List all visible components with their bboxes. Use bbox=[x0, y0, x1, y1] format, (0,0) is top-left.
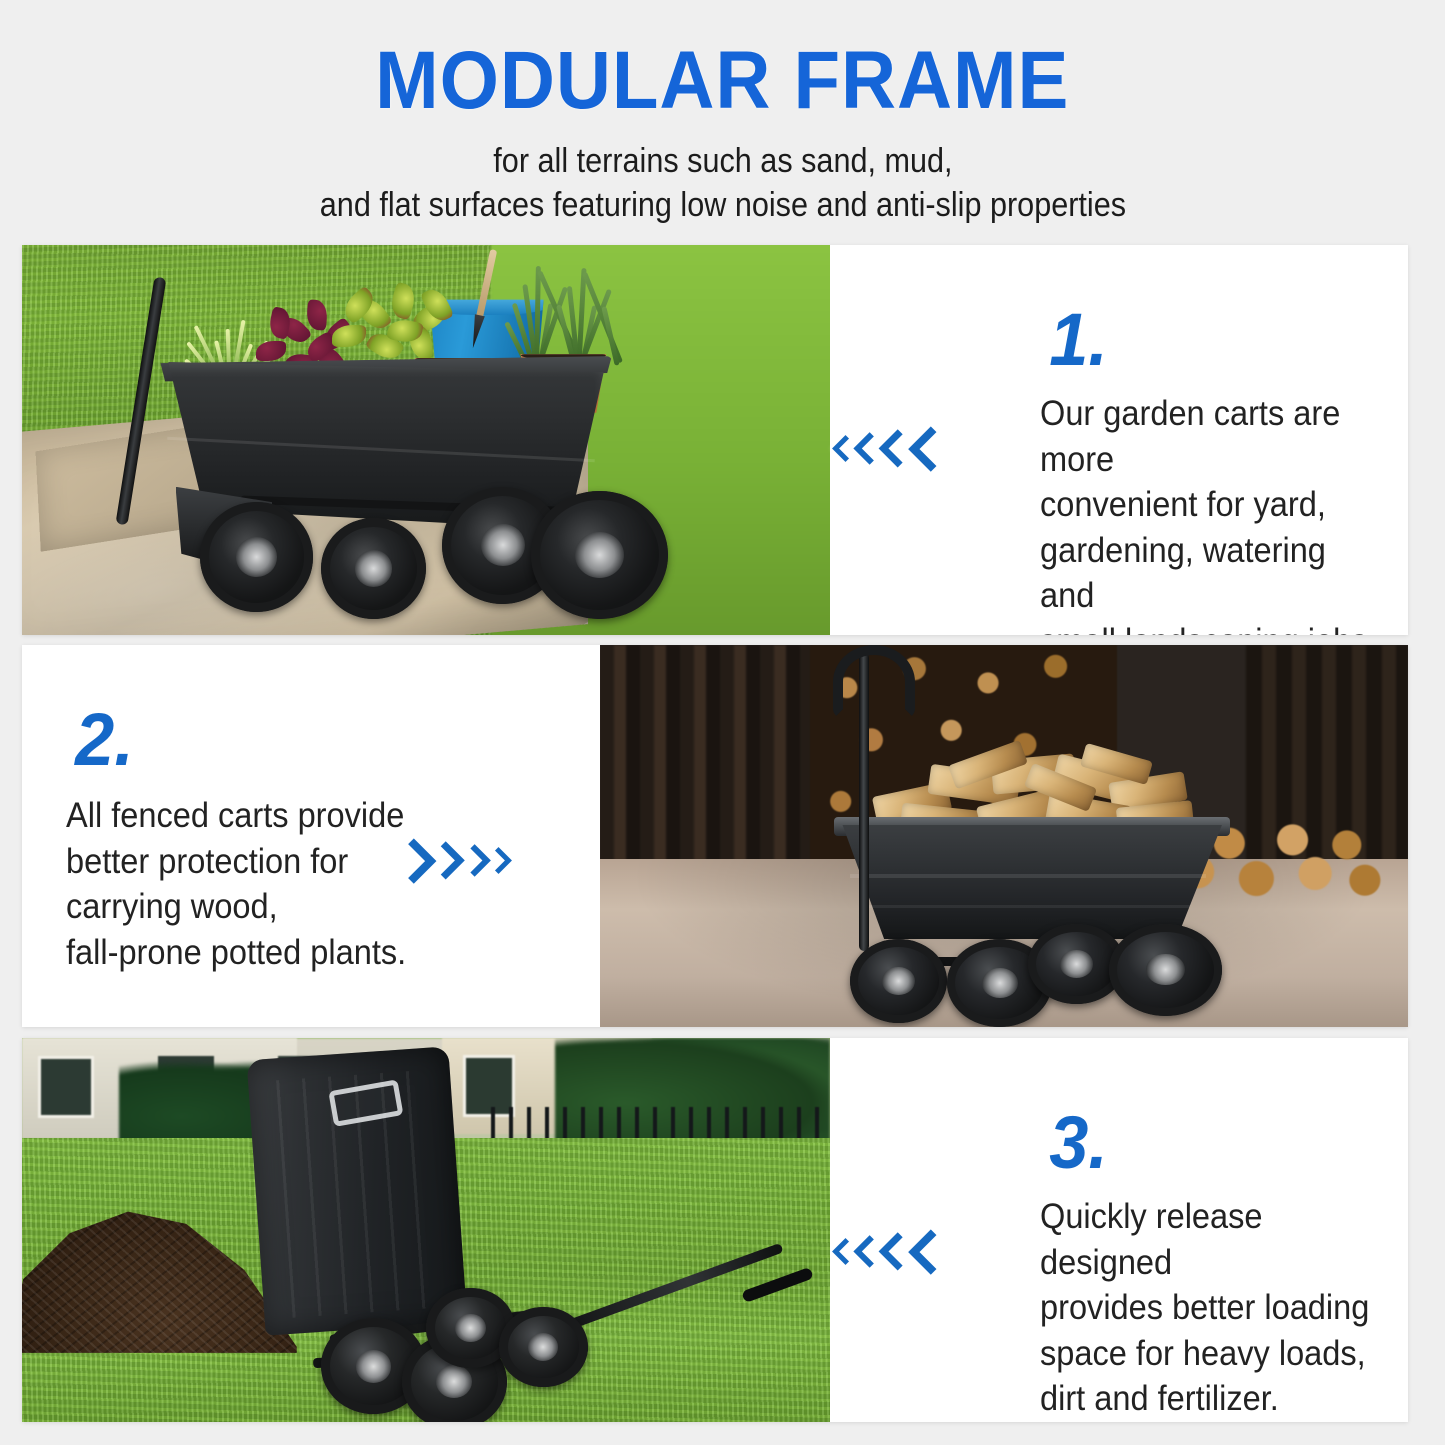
cart-bed-tilted bbox=[247, 1047, 468, 1337]
header: MODULAR FRAME for all terrains such as s… bbox=[0, 0, 1445, 240]
feature-panel-2: 2. All fenced carts provide better prote… bbox=[22, 645, 1408, 1027]
page-subtitle: for all terrains such as sand, mud, and … bbox=[319, 122, 1125, 227]
step-description-1: Our garden carts are more convenient for… bbox=[1040, 391, 1382, 635]
cart-wheel bbox=[321, 518, 426, 619]
step-number-2: 2. bbox=[75, 705, 423, 775]
cart-wheel bbox=[850, 939, 947, 1023]
subtitle-line-1: for all terrains such as sand, mud, bbox=[319, 140, 1125, 184]
cart-handle-upright bbox=[859, 653, 869, 951]
leaf bbox=[256, 341, 286, 361]
rosemary-plant bbox=[507, 261, 620, 366]
chevron-left-group-3 bbox=[836, 1236, 946, 1268]
feature-panel-3: 3. Quickly release designed provides bet… bbox=[22, 1038, 1408, 1422]
release-latch bbox=[328, 1080, 403, 1128]
chevron-right-group-2 bbox=[398, 845, 508, 877]
feature-text-column-2: 2. All fenced carts provide better prote… bbox=[22, 645, 600, 1027]
subtitle-line-2: and flat surfaces featuring low noise an… bbox=[319, 184, 1125, 228]
cart-wheel bbox=[1109, 924, 1222, 1016]
feature-text-column-1: 1. Our garden carts are more convenient … bbox=[830, 245, 1408, 635]
product-photo-dumping-soil bbox=[22, 1038, 830, 1422]
cart-wheel bbox=[499, 1307, 588, 1388]
step-number-3: 3. bbox=[1049, 1108, 1399, 1178]
feature-copy-1: 1. Our garden carts are more convenient … bbox=[940, 305, 1408, 635]
feature-text-column-3: 3. Quickly release designed provides bet… bbox=[830, 1038, 1408, 1422]
feature-panel-1: 1. Our garden carts are more convenient … bbox=[22, 245, 1408, 635]
product-photo-garden-cart-plants bbox=[22, 245, 830, 635]
cart-tub-rib bbox=[850, 874, 1206, 878]
page-title: MODULAR FRAME bbox=[375, 0, 1069, 122]
chevron-right-icon bbox=[485, 847, 512, 874]
leaf bbox=[332, 325, 366, 347]
cart-tub-rib bbox=[859, 905, 1190, 908]
feature-copy-3: 3. Quickly release designed provides bet… bbox=[940, 1108, 1408, 1422]
leaf bbox=[306, 300, 328, 331]
step-description-3: Quickly release designed provides better… bbox=[1040, 1194, 1382, 1422]
chevron-left-group-1 bbox=[836, 433, 946, 465]
step-number-1: 1. bbox=[1049, 305, 1399, 375]
product-photo-firewood-cart bbox=[600, 645, 1408, 1027]
step-description-2: All fenced carts provide better protecti… bbox=[66, 793, 406, 975]
cart-tub bbox=[842, 825, 1222, 940]
leaf bbox=[388, 281, 419, 320]
feature-copy-2: 2. All fenced carts provide better prote… bbox=[66, 705, 432, 975]
cart-wheel bbox=[200, 502, 313, 611]
cart-wheel bbox=[531, 491, 668, 620]
